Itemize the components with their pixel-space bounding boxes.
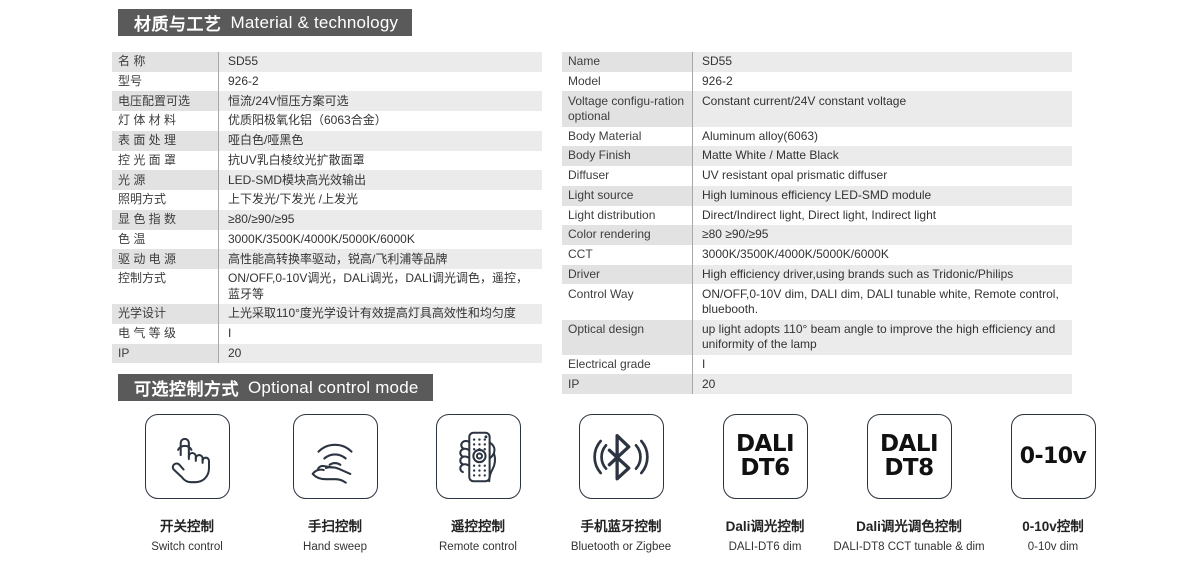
- section-header-material: 材质与工艺 Material & technology: [118, 9, 412, 36]
- section-header-control-cn: 可选控制方式: [134, 375, 239, 400]
- control-mode-label-cn: 开关控制: [160, 515, 214, 535]
- control-mode-item[interactable]: 0-10v0-10v控制0-10v dim: [978, 414, 1128, 553]
- table-row: 光学设计上光采取110°度光学设计有效提高灯具高效性和均匀度: [112, 304, 542, 324]
- spec-cn-row-value: 上下发光/下发光 /上发光: [218, 190, 542, 210]
- remote-control-icon: [436, 414, 521, 499]
- table-row: Color rendering≥80 ≥90/≥95: [562, 225, 1072, 245]
- table-row: Body MaterialAluminum alloy(6063): [562, 127, 1072, 147]
- control-mode-item[interactable]: DALIDT8Dali调光调色控制DALI-DT8 CCT tunable & …: [834, 414, 984, 553]
- spec-en-row-label: Name: [562, 52, 692, 72]
- control-mode-item[interactable]: 开关控制Switch control: [112, 414, 262, 553]
- control-mode-label-cn: 手扫控制: [308, 515, 362, 535]
- table-row: 控制方式 ON/OFF,0-10V调光，DALi调光，DALI调光调色，遥控，蓝…: [112, 269, 542, 304]
- spec-en-row-value: 926-2: [692, 72, 1072, 92]
- spec-cn-row-label: 控 光 面 罩: [112, 151, 218, 171]
- spec-en-row-value: ≥80 ≥90/≥95: [692, 225, 1072, 245]
- spec-en-row-label: IP: [562, 374, 692, 394]
- spec-cn-row-label: 照明方式: [112, 190, 218, 210]
- spec-en-row-value: 20: [692, 374, 1072, 394]
- table-row: IP20: [112, 344, 542, 364]
- table-row: Light distributionDirect/Indirect light,…: [562, 206, 1072, 226]
- table-row: DiffuserUV resistant opal prismatic diff…: [562, 166, 1072, 186]
- bluetooth-icon: [579, 414, 664, 499]
- control-mode-item[interactable]: DALIDT6Dali调光控制DALI-DT6 dim: [690, 414, 840, 553]
- control-mode-label-en: Switch control: [151, 541, 223, 553]
- table-row: 显 色 指 数≥80/≥90/≥95: [112, 210, 542, 230]
- control-mode-label-en: DALI-DT6 dim: [729, 541, 802, 553]
- spec-cn-row-label: 光 源: [112, 170, 218, 190]
- spec-table-chinese: 名 称SD55型号926-2电压配置可选恒流/24V恒压方案可选灯 体 材 料优…: [112, 52, 542, 363]
- table-row: 驱 动 电 源高性能高转换率驱动，锐高/飞利浦等品牌: [112, 249, 542, 269]
- spec-en-row-label: Light distribution: [562, 206, 692, 226]
- spec-en-row-label: Voltage configu-ration optional: [562, 91, 692, 126]
- table-row: 灯 体 材 料优质阳极氧化铝（6063合金）: [112, 111, 542, 131]
- table-row: 照明方式上下发光/下发光 /上发光: [112, 190, 542, 210]
- table-row: Electrical gradeI: [562, 355, 1072, 375]
- table-row: CCT3000K/3500K/4000K/5000K/6000K: [562, 245, 1072, 265]
- spec-en-row-label: Model: [562, 72, 692, 92]
- control-mode-item[interactable]: 遥控控制Remote control: [403, 414, 553, 553]
- control-mode-label-en: DALI-DT8 CCT tunable & dim: [833, 541, 984, 553]
- table-row: 光 源LED-SMD模块高光效输出: [112, 170, 542, 190]
- spec-cn-row-value: ON/OFF,0-10V调光，DALi调光，DALI调光调色，遥控，蓝牙等: [218, 269, 542, 304]
- spec-en-row-label: Body Finish: [562, 146, 692, 166]
- table-row: IP20: [562, 374, 1072, 394]
- table-row: Light sourceHigh luminous efficiency LED…: [562, 186, 1072, 206]
- spec-cn-row-label: 电 气 等 级: [112, 324, 218, 344]
- control-mode-label-cn: 遥控控制: [451, 515, 505, 535]
- control-mode-list: 开关控制Switch control手扫控制Hand sweep遥控控制Remo…: [112, 414, 1112, 564]
- spec-cn-row-value: ≥80/≥90/≥95: [218, 210, 542, 230]
- section-header-control-en: Optional control mode: [248, 378, 419, 398]
- control-mode-label-cn: 0-10v控制: [1022, 515, 1084, 535]
- spec-en-row-value: up light adopts 110° beam angle to impro…: [692, 320, 1072, 355]
- spec-cn-row-label: 表 面 处 理: [112, 131, 218, 151]
- spec-cn-row-value: SD55: [218, 52, 542, 72]
- table-row: Optical designup light adopts 110° beam …: [562, 320, 1072, 355]
- spec-en-row-value: Aluminum alloy(6063): [692, 127, 1072, 147]
- table-row: Voltage configu-ration optionalConstant …: [562, 91, 1072, 126]
- table-row: 型号926-2: [112, 72, 542, 92]
- control-mode-label-cn: 手机蓝牙控制: [581, 515, 662, 535]
- spec-en-row-value: High luminous efficiency LED-SMD module: [692, 186, 1072, 206]
- spec-en-row-value: Constant current/24V constant voltage: [692, 91, 1072, 126]
- table-row: 电压配置可选恒流/24V恒压方案可选: [112, 91, 542, 111]
- spec-cn-row-value: 抗UV乳白棱纹光扩散面罩: [218, 151, 542, 171]
- table-row: NameSD55: [562, 52, 1072, 72]
- spec-cn-row-label: 色 温: [112, 230, 218, 250]
- spec-cn-row-value: 上光采取110°度光学设计有效提高灯具高效性和均匀度: [218, 304, 542, 324]
- control-mode-label-cn: Dali调光控制: [726, 515, 805, 535]
- spec-cn-row-label: IP: [112, 344, 218, 364]
- spec-en-row-value: High efficiency driver,using brands such…: [692, 265, 1072, 285]
- table-row: Control WayON/OFF,0-10V dim, DALI dim, D…: [562, 284, 1072, 319]
- spec-cn-row-value: 3000K/3500K/4000K/5000K/6000K: [218, 230, 542, 250]
- spec-cn-row-label: 控制方式: [112, 269, 218, 304]
- spec-en-row-label: Light source: [562, 186, 692, 206]
- spec-cn-row-value: 优质阳极氧化铝（6063合金）: [218, 111, 542, 131]
- spec-table-english: NameSD55Model926-2Voltage configu-ration…: [562, 52, 1072, 394]
- section-header-material-en: Material & technology: [231, 13, 399, 33]
- spec-en-row-value: SD55: [692, 52, 1072, 72]
- spec-cn-row-label: 型号: [112, 72, 218, 92]
- spec-en-row-label: Electrical grade: [562, 355, 692, 375]
- spec-en-row-label: Optical design: [562, 320, 692, 355]
- spec-cn-row-value: 恒流/24V恒压方案可选: [218, 91, 542, 111]
- spec-cn-row-value: 哑白色/哑黑色: [218, 131, 542, 151]
- table-row: 电 气 等 级I: [112, 324, 542, 344]
- dali-dt6-icon: DALIDT6: [723, 414, 808, 499]
- table-row: 控 光 面 罩抗UV乳白棱纹光扩散面罩: [112, 151, 542, 171]
- table-row: DriverHigh efficiency driver,using brand…: [562, 265, 1072, 285]
- spec-cn-row-label: 驱 动 电 源: [112, 249, 218, 269]
- control-mode-item[interactable]: 手扫控制Hand sweep: [260, 414, 410, 553]
- control-mode-label-en: Hand sweep: [303, 541, 367, 553]
- control-mode-label-en: 0-10v dim: [1028, 541, 1079, 553]
- spec-en-row-value: UV resistant opal prismatic diffuser: [692, 166, 1072, 186]
- spec-cn-row-value: 20: [218, 344, 542, 364]
- spec-cn-row-label: 显 色 指 数: [112, 210, 218, 230]
- table-row: 色 温3000K/3500K/4000K/5000K/6000K: [112, 230, 542, 250]
- spec-en-row-value: Direct/Indirect light, Direct light, Ind…: [692, 206, 1072, 226]
- spec-cn-row-label: 灯 体 材 料: [112, 111, 218, 131]
- control-mode-item[interactable]: 手机蓝牙控制Bluetooth or Zigbee: [546, 414, 696, 553]
- spec-en-row-value: ON/OFF,0-10V dim, DALI dim, DALI tunable…: [692, 284, 1072, 319]
- table-row: 名 称SD55: [112, 52, 542, 72]
- hand-sweep-icon: [293, 414, 378, 499]
- spec-en-row-label: Body Material: [562, 127, 692, 147]
- spec-en-row-label: Color rendering: [562, 225, 692, 245]
- control-mode-label-en: Remote control: [439, 541, 517, 553]
- spec-cn-row-value: LED-SMD模块高光效输出: [218, 170, 542, 190]
- zero-to-ten-volt-icon: 0-10v: [1011, 414, 1096, 499]
- spec-en-row-label: Diffuser: [562, 166, 692, 186]
- table-row: 表 面 处 理哑白色/哑黑色: [112, 131, 542, 151]
- spec-en-row-label: Control Way: [562, 284, 692, 319]
- spec-cn-row-label: 光学设计: [112, 304, 218, 324]
- section-header-control-mode: 可选控制方式 Optional control mode: [118, 374, 433, 401]
- spec-cn-row-label: 名 称: [112, 52, 218, 72]
- spec-cn-row-value: 926-2: [218, 72, 542, 92]
- spec-cn-row-value: 高性能高转换率驱动，锐高/飞利浦等品牌: [218, 249, 542, 269]
- spec-sheet: 材质与工艺 Material & technology 名 称SD55型号926…: [0, 0, 1199, 574]
- table-row: Body FinishMatte White / Matte Black: [562, 146, 1072, 166]
- dali-dt8-icon: DALIDT8: [867, 414, 952, 499]
- section-header-material-cn: 材质与工艺: [134, 10, 222, 35]
- spec-en-row-label: CCT: [562, 245, 692, 265]
- spec-en-row-value: I: [692, 355, 1072, 375]
- spec-cn-row-value: I: [218, 324, 542, 344]
- spec-en-row-value: Matte White / Matte Black: [692, 146, 1072, 166]
- control-mode-label-cn: Dali调光调色控制: [856, 515, 962, 535]
- spec-cn-row-label: 电压配置可选: [112, 91, 218, 111]
- tap-hand-icon: [145, 414, 230, 499]
- table-row: Model926-2: [562, 72, 1072, 92]
- control-mode-label-en: Bluetooth or Zigbee: [571, 541, 671, 553]
- spec-en-row-value: 3000K/3500K/4000K/5000K/6000K: [692, 245, 1072, 265]
- spec-en-row-label: Driver: [562, 265, 692, 285]
